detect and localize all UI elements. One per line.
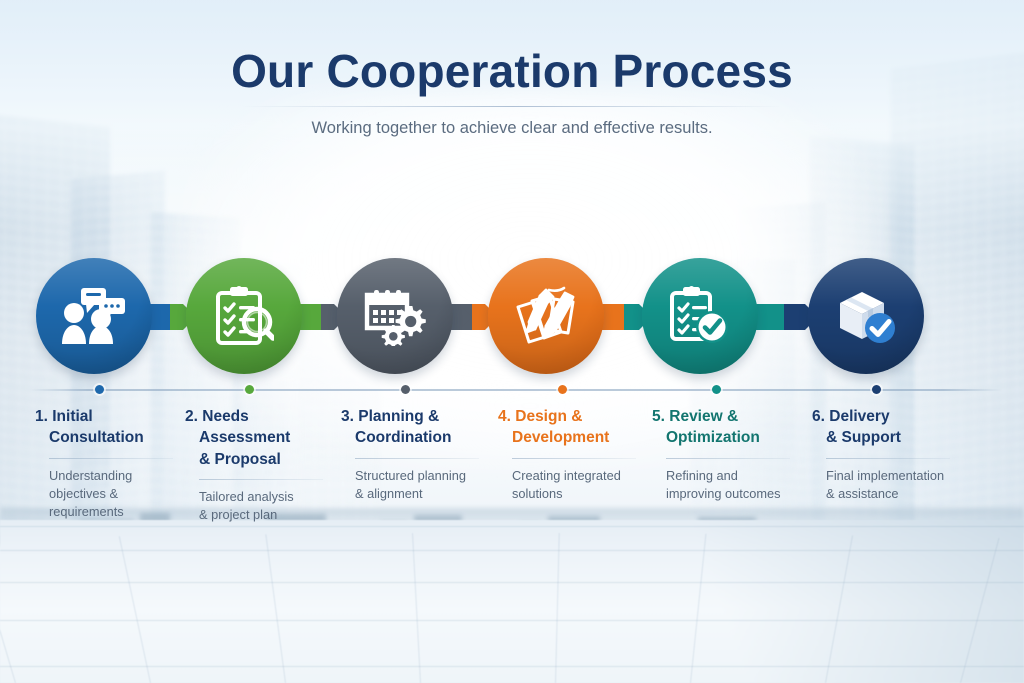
step-description-line-2: solutions bbox=[512, 486, 563, 501]
step-description-line-1: Final implementation bbox=[826, 468, 944, 483]
step-description: Tailored analysis& project plan bbox=[185, 488, 337, 524]
step-title: 5. Review &Optimization bbox=[652, 406, 804, 449]
step-title-line-2: Coordination bbox=[341, 427, 493, 448]
step-number: 6. bbox=[812, 408, 825, 425]
process-step-circle-5[interactable] bbox=[642, 258, 758, 374]
step-description-line-2: & project plan bbox=[199, 507, 277, 522]
process-step-circle-4[interactable] bbox=[488, 258, 604, 374]
step-description: Understandingobjectives &requirements bbox=[35, 467, 187, 521]
step-number: 3. bbox=[341, 408, 354, 425]
step-description-line-1: Understanding bbox=[49, 468, 132, 483]
page-title: Our Cooperation Process bbox=[0, 0, 1024, 96]
process-step-circle-3[interactable] bbox=[337, 258, 453, 374]
process-step-1[interactable]: 1. InitialConsultationUnderstandingobjec… bbox=[35, 406, 187, 521]
step-title-line-3: & Proposal bbox=[185, 449, 337, 470]
step-title: 6. Delivery& Support bbox=[812, 406, 964, 449]
process-step-4[interactable]: 4. Design &DevelopmentCreating integrate… bbox=[498, 406, 650, 503]
step-description-line-1: Tailored analysis bbox=[199, 489, 294, 504]
process-step-6[interactable]: 6. Delivery& SupportFinal implementation… bbox=[812, 406, 964, 503]
process-step-3[interactable]: 3. Planning &CoordinationStructured plan… bbox=[341, 406, 493, 503]
timeline-dot-3 bbox=[401, 385, 410, 394]
timeline-dot-2 bbox=[245, 385, 254, 394]
step-title-line-2: Optimization bbox=[652, 427, 804, 448]
background-plaza-floor bbox=[0, 520, 1024, 683]
process-step-2[interactable]: 2. NeedsAssessment& ProposalTailored ana… bbox=[185, 406, 337, 524]
step-divider bbox=[512, 458, 636, 459]
step-divider bbox=[199, 479, 323, 480]
process-band bbox=[0, 258, 1024, 376]
step-title-line-2: Consultation bbox=[35, 427, 187, 448]
timeline-line bbox=[30, 389, 1002, 391]
step-description-line-2: objectives & bbox=[49, 486, 118, 501]
step-number: 4. bbox=[498, 408, 511, 425]
step-title: 3. Planning &Coordination bbox=[341, 406, 493, 449]
step-divider bbox=[49, 458, 173, 459]
timeline-dot-6 bbox=[872, 385, 881, 394]
step-divider bbox=[826, 458, 950, 459]
process-step-circle-6[interactable] bbox=[808, 258, 924, 374]
step-title: 1. InitialConsultation bbox=[35, 406, 187, 449]
infographic-canvas: Our Cooperation Process Working together… bbox=[0, 0, 1024, 683]
step-description-line-2: & assistance bbox=[826, 486, 899, 501]
step-number: 5. bbox=[652, 408, 665, 425]
header: Our Cooperation Process Working together… bbox=[0, 0, 1024, 138]
timeline-dot-5 bbox=[712, 385, 721, 394]
step-description-line-2: improving outcomes bbox=[666, 486, 781, 501]
timeline-dot-1 bbox=[95, 385, 104, 394]
step-description-line-3: requirements bbox=[49, 504, 124, 519]
step-description-line-1: Refining and bbox=[666, 468, 738, 483]
pen-pencil-papers-icon bbox=[488, 258, 604, 374]
step-title: 2. NeedsAssessment& Proposal bbox=[185, 406, 337, 470]
step-title-line-1: Needs bbox=[202, 408, 249, 425]
process-step-circle-2[interactable] bbox=[186, 258, 302, 374]
step-description-line-1: Creating integrated bbox=[512, 468, 621, 483]
step-number: 1. bbox=[35, 408, 48, 425]
step-description: Refining andimproving outcomes bbox=[652, 467, 804, 503]
step-title-line-2: Assessment bbox=[185, 427, 337, 448]
title-divider bbox=[242, 106, 782, 107]
step-title-line-1: Review & bbox=[669, 408, 738, 425]
step-number: 2. bbox=[185, 408, 198, 425]
step-divider bbox=[666, 458, 790, 459]
step-title-line-1: Planning & bbox=[358, 408, 439, 425]
step-title-line-1: Initial bbox=[52, 408, 92, 425]
process-step-circle-1[interactable] bbox=[36, 258, 152, 374]
step-description-line-2: & alignment bbox=[355, 486, 423, 501]
checklist-approved-icon bbox=[642, 258, 758, 374]
calendar-gears-icon bbox=[337, 258, 453, 374]
package-check-icon bbox=[808, 258, 924, 374]
step-description: Structured planning& alignment bbox=[341, 467, 493, 503]
step-title-line-1: Delivery bbox=[829, 408, 889, 425]
step-divider bbox=[355, 458, 479, 459]
step-description: Creating integratedsolutions bbox=[498, 467, 650, 503]
process-step-5[interactable]: 5. Review &OptimizationRefining andimpro… bbox=[652, 406, 804, 503]
clipboard-magnifier-icon bbox=[186, 258, 302, 374]
step-title-line-2: & Support bbox=[812, 427, 964, 448]
step-title-line-2: Development bbox=[498, 427, 650, 448]
step-description-line-1: Structured planning bbox=[355, 468, 466, 483]
step-title: 4. Design &Development bbox=[498, 406, 650, 449]
timeline-dot-4 bbox=[558, 385, 567, 394]
step-title-line-1: Design & bbox=[515, 408, 582, 425]
step-description: Final implementation& assistance bbox=[812, 467, 964, 503]
page-subtitle: Working together to achieve clear and ef… bbox=[0, 119, 1024, 138]
people-speech-bubbles-icon bbox=[36, 258, 152, 374]
